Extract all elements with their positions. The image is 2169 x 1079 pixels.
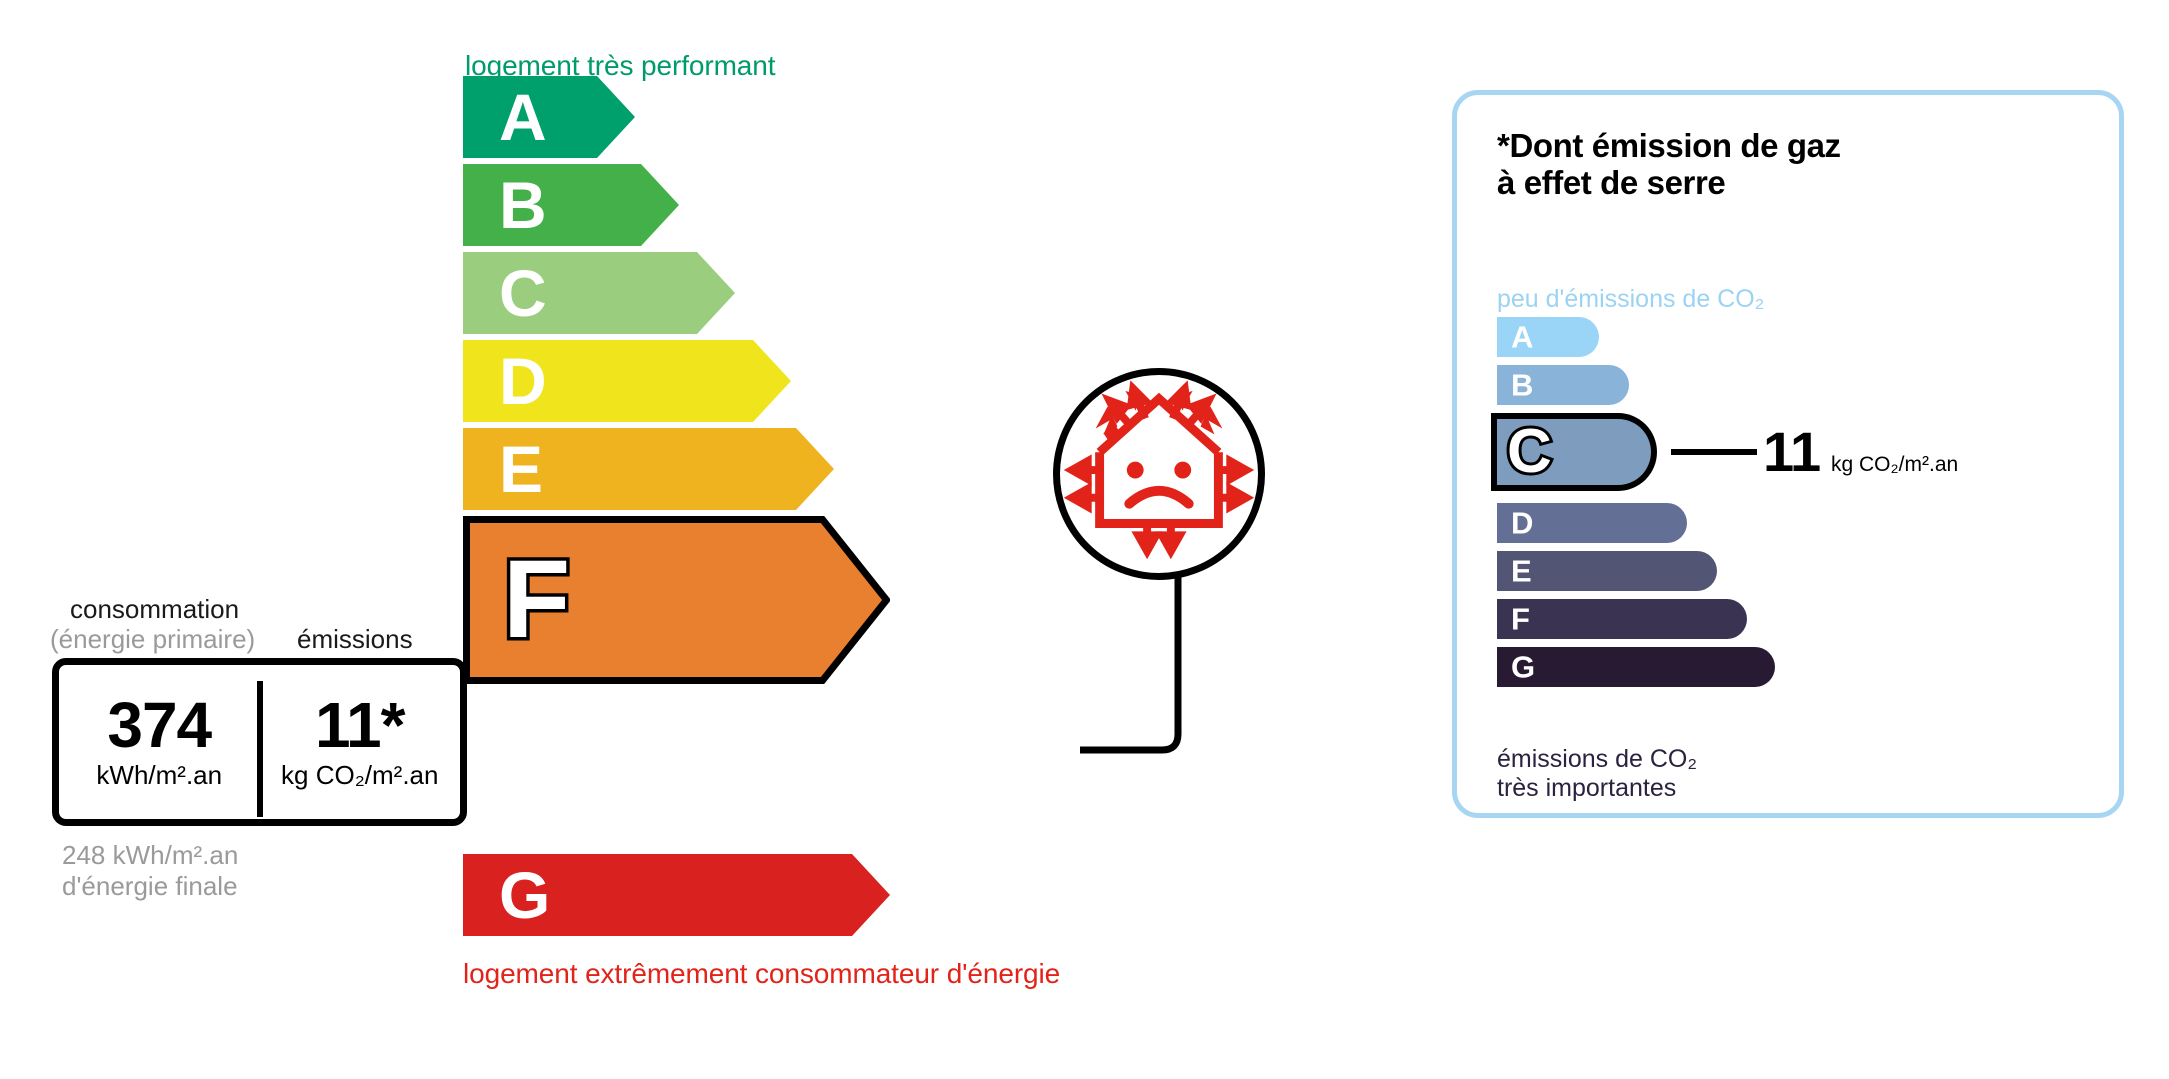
co2-top-caption: peu d'émissions de CO₂	[1497, 285, 1764, 314]
emission-unit: kg CO₂/m².an	[260, 760, 461, 791]
emission-cell: 11* kg CO₂/m².an	[260, 693, 461, 791]
co2-class-bar-f[interactable]: F	[1497, 599, 1747, 639]
energy-class-bar-g[interactable]: G	[463, 854, 890, 936]
energy-class-bar-f[interactable]: F	[463, 516, 890, 684]
energy-class-bar-b[interactable]: B	[463, 164, 679, 246]
co2-value-unit: kg CO₂/m².an	[1831, 453, 1958, 477]
emission-value: 11*	[260, 693, 461, 758]
energy-class-bar-c[interactable]: C	[463, 252, 735, 334]
badge-connector-line	[1080, 560, 1280, 780]
energy-class-letter-d: D	[499, 348, 547, 414]
label-primary-energy: (énergie primaire)	[50, 624, 255, 655]
co2-leader-line	[1671, 449, 1757, 455]
label-consumption: consommation	[70, 594, 239, 625]
co2-class-bar-a[interactable]: A	[1497, 317, 1599, 357]
energy-bar-shape-b	[463, 164, 679, 246]
final-energy-line-1: 248 kWh/m².an	[62, 840, 238, 871]
consumption-cell: 374 kWh/m².an	[59, 693, 260, 791]
co2-bottom-line-2: très importantes	[1497, 774, 1697, 803]
dpe-label: logement très performant ABCDEFG logemen…	[0, 0, 2169, 1079]
co2-class-letter-a: A	[1511, 322, 1533, 353]
co2-bottom-line-1: émissions de CO₂	[1497, 745, 1697, 774]
value-box: 374 kWh/m².an 11* kg CO₂/m².an	[52, 658, 467, 826]
co2-class-bar-c[interactable]: C	[1497, 413, 1657, 491]
consumption-unit: kWh/m².an	[59, 760, 260, 791]
co2-class-letter-e: E	[1511, 556, 1532, 587]
co2-value: 11	[1763, 424, 1820, 480]
co2-title-line-1: *Dont émission de gaz	[1497, 128, 1841, 165]
co2-panel-title: *Dont émission de gaz à effet de serre	[1497, 128, 1841, 202]
co2-class-letter-g: G	[1511, 652, 1535, 683]
energy-class-letter-g: G	[499, 862, 550, 928]
sad-house-badge	[1053, 368, 1265, 580]
co2-emissions-panel: *Dont émission de gaz à effet de serre p…	[1452, 90, 2124, 818]
co2-class-letter-c: C	[1507, 421, 1552, 483]
co2-title-line-2: à effet de serre	[1497, 165, 1841, 202]
energy-class-bar-a[interactable]: A	[463, 76, 635, 158]
energy-bar-shape-a	[463, 76, 635, 158]
energy-performance-panel: logement très performant ABCDEFG logemen…	[0, 0, 1420, 1079]
energy-class-bar-e[interactable]: E	[463, 428, 834, 510]
energy-class-letter-f: F	[503, 545, 570, 655]
consumption-value: 374	[59, 693, 260, 758]
co2-class-letter-f: F	[1511, 604, 1530, 635]
energy-class-letter-a: A	[499, 84, 547, 150]
final-energy-line-2: d'énergie finale	[62, 871, 238, 902]
co2-class-bar-d[interactable]: D	[1497, 503, 1687, 543]
energy-class-letter-c: C	[499, 260, 547, 326]
co2-class-bar-b[interactable]: B	[1497, 365, 1629, 405]
co2-class-letter-b: B	[1511, 370, 1533, 401]
energy-bottom-caption: logement extrêmement consommateur d'éner…	[463, 958, 1060, 990]
energy-class-bar-d[interactable]: D	[463, 340, 791, 422]
co2-class-letter-d: D	[1511, 508, 1533, 539]
sad-house-heat-loss-icon	[1060, 375, 1258, 573]
energy-class-letter-b: B	[499, 172, 547, 238]
energy-class-letter-e: E	[499, 436, 543, 502]
co2-bottom-caption: émissions de CO₂ très importantes	[1497, 745, 1697, 803]
final-energy-note: 248 kWh/m².an d'énergie finale	[62, 840, 238, 901]
co2-class-bar-g[interactable]: G	[1497, 647, 1775, 687]
label-emissions: émissions	[297, 624, 413, 655]
co2-class-bar-e[interactable]: E	[1497, 551, 1717, 591]
